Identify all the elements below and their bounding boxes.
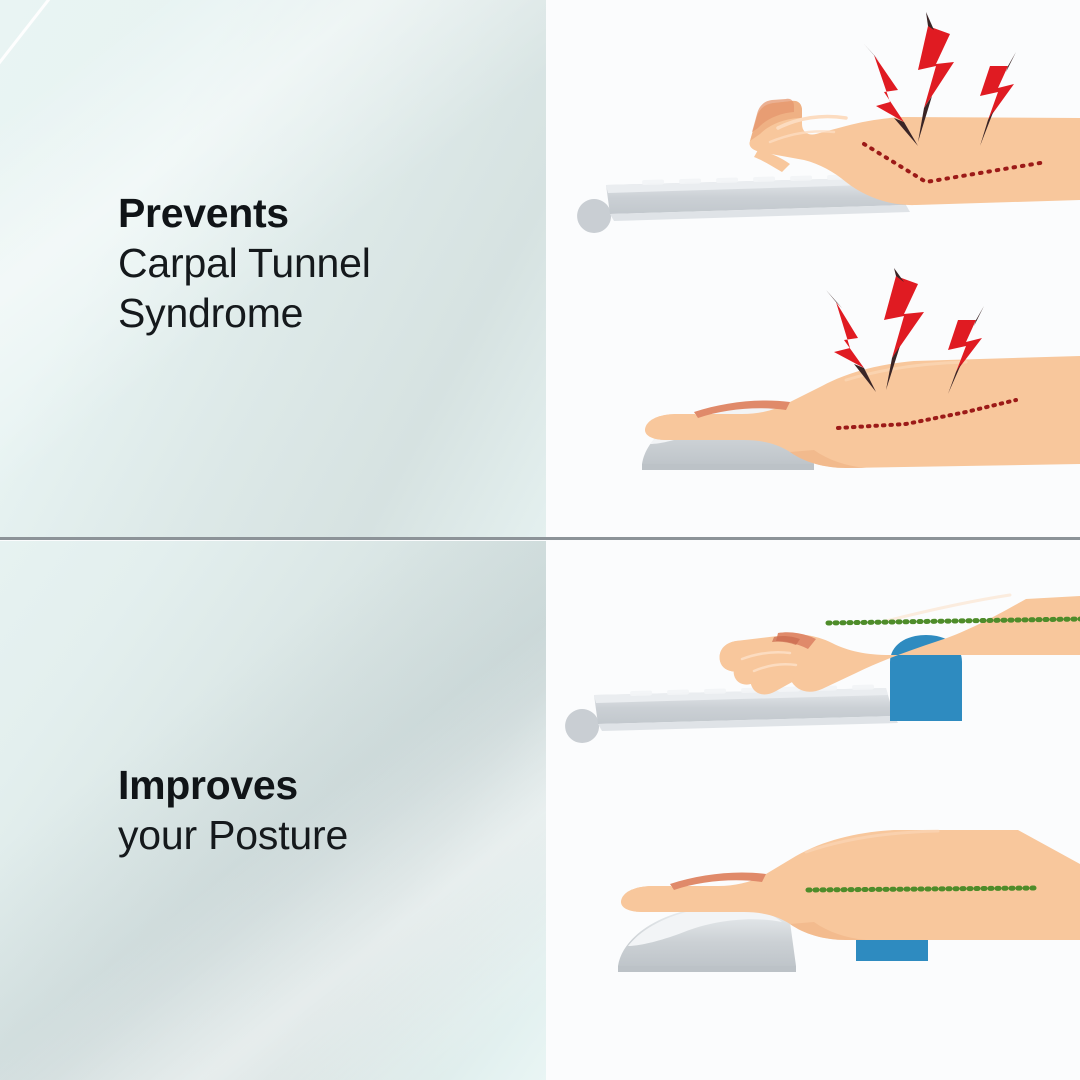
- illustration-keyboard-good-posture: [546, 541, 1080, 806]
- keyboard-icon: [565, 684, 898, 743]
- caption-improves-light: your Posture: [118, 810, 348, 860]
- illustration-mouse-good-posture: [546, 806, 1080, 1080]
- quadrant-divider-horizontal: [0, 537, 1080, 540]
- wrist-angle-line-good: [808, 888, 1038, 890]
- illustration-mouse-bad-posture: [546, 268, 1080, 537]
- caption-improves: Improves your Posture: [118, 760, 348, 860]
- caption-prevents: Prevents Carpal Tunnel Syndrome: [118, 188, 371, 338]
- caption-improves-strong: Improves: [118, 760, 348, 810]
- ergonomic-benefits-infographic: Prevents Carpal Tunnel Syndrome Improves…: [0, 0, 1080, 1080]
- illustration-keyboard-bad-posture: [546, 0, 1080, 268]
- caption-prevents-light: Carpal Tunnel Syndrome: [118, 238, 371, 338]
- caption-prevents-strong: Prevents: [118, 188, 371, 238]
